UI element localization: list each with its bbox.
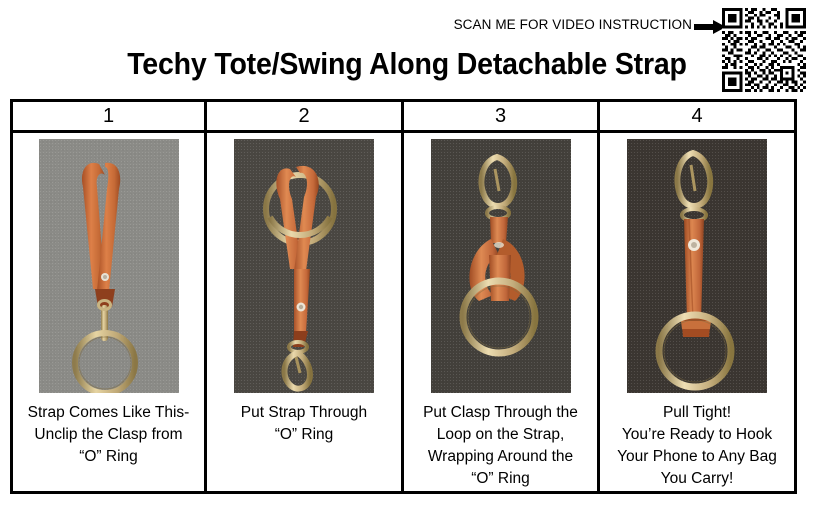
step-caption-3: Put Clasp Through the Loop on the Strap,…	[404, 402, 597, 490]
step-cell-4: Pull Tight! You’re Ready to Hook Your Ph…	[600, 133, 794, 491]
page-title: Techy Tote/Swing Along Detachable Strap	[33, 46, 782, 82]
table-body-row: Strap Comes Like This- Unclip the Clasp …	[13, 133, 794, 491]
steps-table: 1 2 3 4	[10, 99, 797, 494]
step-number-header-4: 4	[600, 102, 794, 130]
table-header-row: 1 2 3 4	[13, 102, 794, 133]
step-photo-3	[431, 139, 571, 393]
step-caption-2: Put Strap Through “O” Ring	[207, 402, 401, 446]
step-number-header-3: 3	[404, 102, 600, 130]
step-cell-1: Strap Comes Like This- Unclip the Clasp …	[13, 133, 207, 491]
scan-instruction-label: SCAN ME FOR VIDEO INSTRUCTION	[454, 17, 692, 32]
step-cell-3: Put Clasp Through the Loop on the Strap,…	[404, 133, 600, 491]
step-number-header-1: 1	[13, 102, 207, 130]
step-caption-1: Strap Comes Like This- Unclip the Clasp …	[13, 402, 204, 468]
step-photo-1	[39, 139, 179, 393]
step-photo-2	[234, 139, 374, 393]
step-number-header-2: 2	[207, 102, 404, 130]
step-cell-2: Put Strap Through “O” Ring	[207, 133, 404, 491]
step-caption-4: Pull Tight! You’re Ready to Hook Your Ph…	[600, 402, 794, 490]
step-photo-4	[627, 139, 767, 393]
